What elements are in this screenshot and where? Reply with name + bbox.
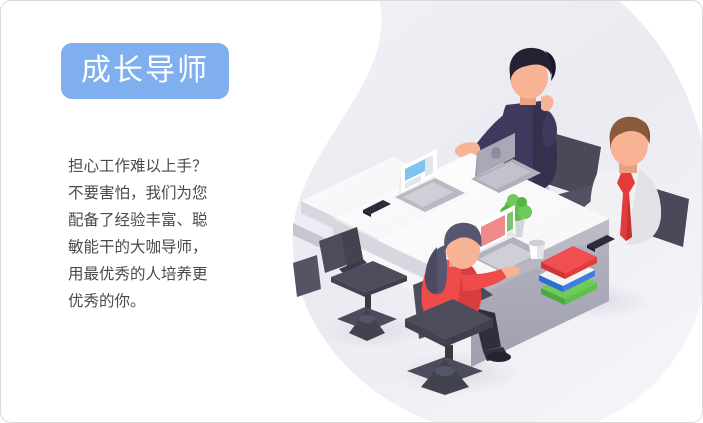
coffee-cup-front <box>529 240 545 259</box>
text-column: 成长导师 担心工作难以上手？ 不要害怕，我们为您 配备了经验丰富、聪 敏能干的大… <box>1 1 281 423</box>
promo-card: 成长导师 担心工作难以上手？ 不要害怕，我们为您 配备了经验丰富、聪 敏能干的大… <box>0 0 703 423</box>
body-paragraph: 担心工作难以上手？ 不要害怕，我们为您 配备了经验丰富、聪 敏能干的大咖导师， … <box>68 153 258 315</box>
section-badge: 成长导师 <box>61 43 229 99</box>
badge-label: 成长导师 <box>81 56 209 86</box>
